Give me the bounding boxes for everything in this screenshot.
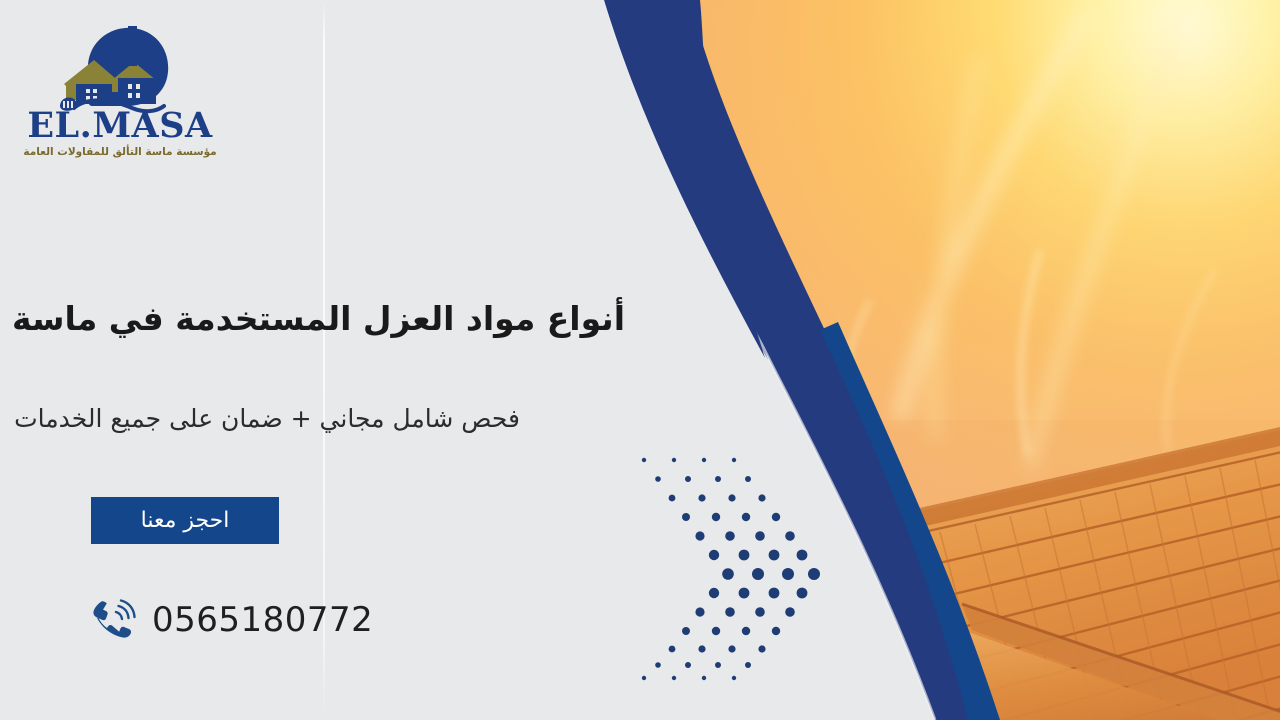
page-subtitle: فحص شامل مجاني + ضمان على جميع الخدمات [40,403,520,436]
logo-subtitle: مؤسسة ماسة التألق للمقاولات العامة [20,146,220,158]
logo-wordmark: EL.MASA [20,108,220,143]
chevron-right-dots-icon [636,452,832,684]
contact-phone[interactable]: 0565180772 [88,596,373,644]
promo-banner: EL.MASA مؤسسة ماسة التألق للمقاولات العا… [0,0,1280,720]
phone-ringing-icon [88,596,136,644]
building-house-logo-icon [58,22,176,114]
book-now-button[interactable]: احجز معنا [91,497,279,544]
phone-number-text: 0565180772 [152,603,373,637]
company-logo: EL.MASA مؤسسة ماسة التألق للمقاولات العا… [20,22,220,172]
page-title: أنواع مواد العزل المستخدمة في ماسة التأل… [25,298,625,339]
